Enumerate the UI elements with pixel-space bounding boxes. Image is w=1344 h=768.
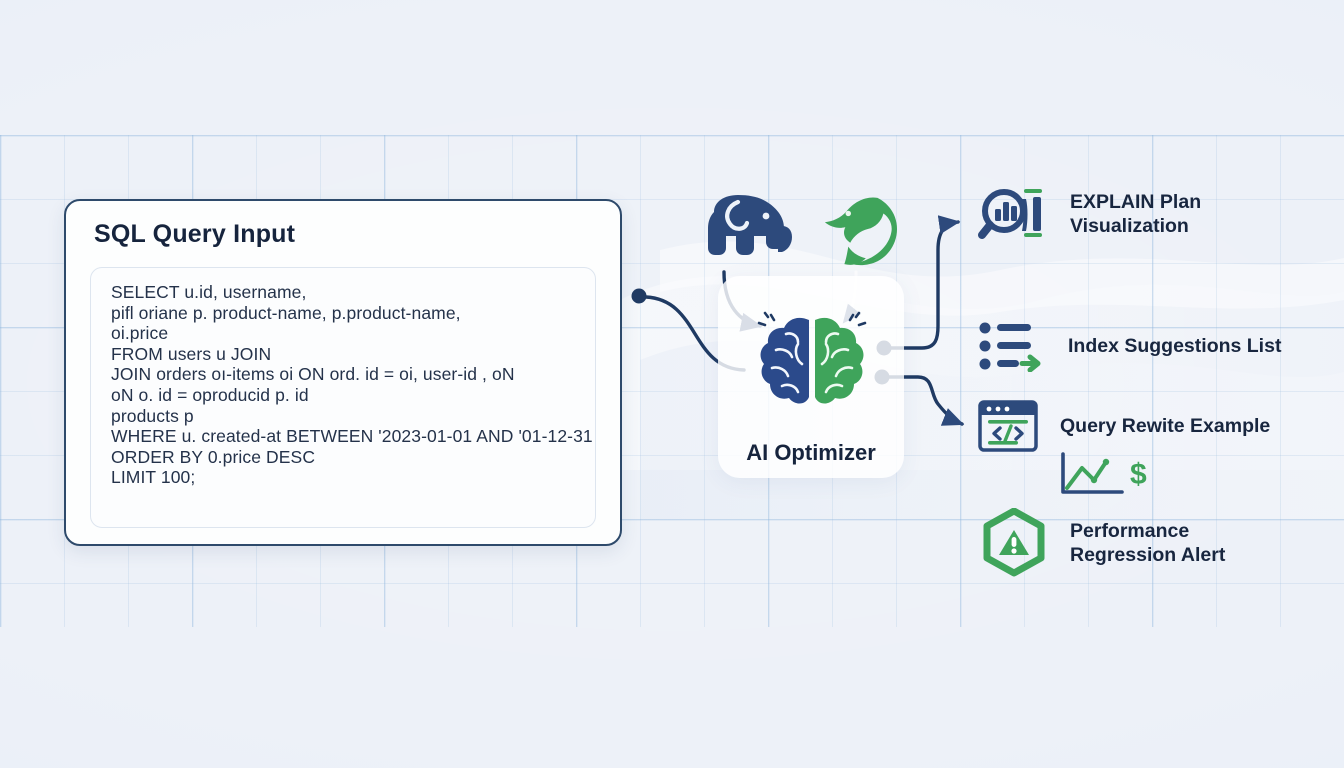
dollar-symbol: $ xyxy=(1130,458,1147,491)
output-label-performance-regression: Performance Regression Alert xyxy=(1070,519,1225,567)
mysql-dolphin-icon xyxy=(818,192,900,270)
sql-code-box[interactable]: SELECT u.id, username, piﬂ oriane p. pro… xyxy=(90,267,596,528)
ai-optimizer-label: AI Optimizer xyxy=(718,440,904,466)
magnifier-bar-chart-icon xyxy=(978,183,1046,245)
output-label-query-rewrite: Query Rewite Example xyxy=(1060,414,1270,438)
sql-code-text: SELECT u.id, username, piﬂ oriane p. pro… xyxy=(111,282,585,488)
bulleted-list-arrow-icon xyxy=(978,320,1044,372)
ai-brain-icon xyxy=(752,310,872,422)
line-chart-dollar-icon: $ xyxy=(1060,452,1156,500)
sql-query-input-card[interactable]: SQL Query Input SELECT u.id, username, p… xyxy=(64,199,622,546)
diagram-canvas: SQL Query Input SELECT u.id, username, p… xyxy=(0,0,1344,768)
output-label-explain-plan: EXPLAIN Plan Visualization xyxy=(1070,190,1201,238)
output-query-rewrite[interactable]: Query Rewite Example xyxy=(978,400,1270,452)
output-label-index-suggestions: Index Suggestions List xyxy=(1068,334,1281,358)
output-explain-plan[interactable]: EXPLAIN Plan Visualization xyxy=(978,183,1201,245)
hexagon-warning-icon xyxy=(980,508,1048,578)
output-index-suggestions[interactable]: Index Suggestions List xyxy=(978,320,1281,372)
page-title: SQL Query Input xyxy=(94,220,295,249)
output-performance-regression[interactable]: Performance Regression Alert xyxy=(980,508,1225,578)
code-window-icon xyxy=(978,400,1038,452)
postgresql-elephant-icon xyxy=(700,192,798,266)
